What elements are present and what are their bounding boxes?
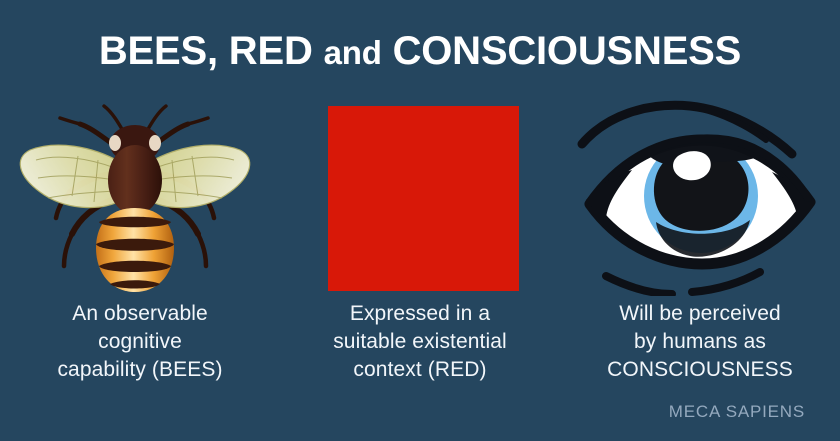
caption-line: cognitive (0, 328, 280, 356)
caption-line: context (RED) (280, 356, 560, 384)
eye-art-container (560, 96, 840, 296)
caption-line: capability (BEES) (0, 356, 280, 384)
red-art-container (280, 96, 560, 296)
caption-bees: An observable cognitive capability (BEES… (0, 300, 280, 384)
bee-art-container (0, 96, 280, 296)
caption-red: Expressed in a suitable existential cont… (280, 300, 560, 384)
title-part-1: BEES, RED (99, 29, 324, 73)
red-square-swatch (328, 106, 519, 291)
caption-line: suitable existential (280, 328, 560, 356)
brand-wordmark: MECA SAPIENS (669, 402, 805, 422)
panel-bees: An observable cognitive capability (BEES… (0, 96, 280, 396)
caption-line: Will be perceived (560, 300, 840, 328)
panel-red: Expressed in a suitable existential cont… (280, 96, 560, 396)
panel-eye: Will be perceived by humans as CONSCIOUS… (560, 96, 840, 396)
caption-line: by humans as (560, 328, 840, 356)
caption-line: CONSCIOUSNESS (560, 356, 840, 384)
page-title: BEES, RED and CONSCIOUSNESS (0, 28, 840, 74)
title-conjunction: and (324, 34, 382, 71)
caption-line: An observable (0, 300, 280, 328)
title-part-2: CONSCIOUSNESS (382, 29, 742, 73)
honeybee-icon (0, 96, 280, 296)
human-eye-icon (560, 96, 840, 296)
caption-line: Expressed in a (280, 300, 560, 328)
caption-eye: Will be perceived by humans as CONSCIOUS… (560, 300, 840, 384)
slide-canvas: BEES, RED and CONSCIOUSNESS (0, 0, 840, 441)
